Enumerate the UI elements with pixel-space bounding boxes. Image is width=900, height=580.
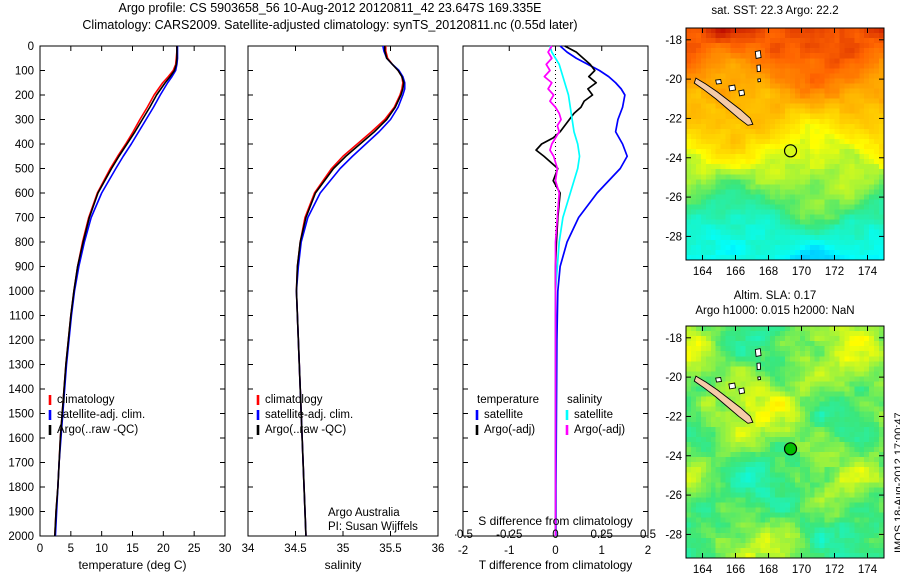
x-tick-label: 5 <box>68 543 74 555</box>
depth-tick-label: 2000 <box>8 531 34 543</box>
x-tick-label: 0 <box>37 543 43 555</box>
t-diff-tick-label: 2 <box>645 545 651 557</box>
islet <box>716 378 722 383</box>
pi-note: PI: Susan Wijffels <box>328 521 418 533</box>
lon-tick-label: 172 <box>825 266 844 278</box>
salinity-plot[interactable]: 3434.53535.536salinityclimatologysatelli… <box>240 38 455 578</box>
legend-label: Argo(..raw -QC) <box>265 424 346 436</box>
x-axis-label: temperature (deg C) <box>78 558 186 572</box>
argo-profile-marker[interactable] <box>785 145 797 157</box>
lat-tick-label: -18 <box>665 333 682 345</box>
depth-tick-label: 1900 <box>8 507 34 519</box>
legend-label: Argo(..raw -QC) <box>57 424 138 436</box>
lon-tick-label: 172 <box>825 564 844 576</box>
islet <box>757 65 761 72</box>
depth-tick-label: 1600 <box>8 433 34 445</box>
lat-tick-label: -18 <box>665 35 682 47</box>
s-diff-tick-label: -0.25 <box>496 529 522 541</box>
lat-tick-label: -20 <box>665 372 682 384</box>
plot-frame <box>40 46 225 536</box>
lon-tick-label: 170 <box>792 266 811 278</box>
depth-tick-label: 500 <box>15 164 34 176</box>
sst-map[interactable]: 164166168170172174-18-20-22-24-26-28 <box>660 20 900 288</box>
x-tick-label: 35 <box>337 543 350 555</box>
depth-tick-label: 900 <box>15 262 34 274</box>
depth-tick-label: 700 <box>15 213 34 225</box>
temperature-plot[interactable]: 0100200300400500600700800900100011001200… <box>0 38 240 578</box>
legend-label: satellite <box>574 409 613 421</box>
lon-tick-label: 166 <box>726 564 745 576</box>
legend-label: Argo(-adj) <box>484 424 535 436</box>
lat-tick-label: -26 <box>665 490 682 502</box>
depth-tick-label: 1300 <box>8 360 34 372</box>
lat-tick-label: -28 <box>665 529 682 541</box>
page-title: Argo profile: CS 5903658_56 10-Aug-2012 … <box>0 0 660 34</box>
title-line-1: Argo profile: CS 5903658_56 10-Aug-2012 … <box>0 0 660 17</box>
difference-plot[interactable]: temperaturesatelliteArgo(-adj)salinitysa… <box>455 38 660 578</box>
t-diff-tick-label: -2 <box>458 545 468 557</box>
lat-tick-label: -26 <box>665 192 682 204</box>
depth-tick-label: 400 <box>15 139 34 151</box>
x-tick-label: 25 <box>188 543 201 555</box>
legend-label: Argo(-adj) <box>574 424 625 436</box>
x-tick-label: 10 <box>95 543 108 555</box>
lat-tick-label: -24 <box>665 153 682 165</box>
x-tick-label: 34.5 <box>284 543 306 555</box>
depth-tick-label: 100 <box>15 66 34 78</box>
lon-tick-label: 164 <box>693 564 713 576</box>
t-diff-tick-label: 0 <box>552 545 558 557</box>
depth-tick-label: 1400 <box>8 384 34 396</box>
salinity-profile-panel: 3434.53535.536salinityclimatologysatelli… <box>240 38 455 578</box>
title-line-2: Climatology: CARS2009. Satellite-adjuste… <box>0 17 660 34</box>
sst-map-panel: 164166168170172174-18-20-22-24-26-28 <box>660 20 900 288</box>
sla-map[interactable]: 164166168170172174-18-20-22-24-26-28 <box>660 318 900 580</box>
islet <box>755 349 761 357</box>
depth-tick-label: 1500 <box>8 409 34 421</box>
x-tick-label: 34 <box>242 543 255 555</box>
legend-label: satellite-adj. clim. <box>57 409 145 421</box>
t-diff-axis-label: T difference from climatology <box>479 558 633 572</box>
islet <box>716 80 722 85</box>
legend-header-salinity: salinity <box>567 394 602 406</box>
difference-profile-panel: temperaturesatelliteArgo(-adj)salinitysa… <box>455 38 660 578</box>
lon-tick-label: 168 <box>759 564 778 576</box>
depth-tick-label: 1100 <box>9 311 34 323</box>
islet <box>757 363 761 370</box>
lon-tick-label: 166 <box>726 266 745 278</box>
lon-tick-label: 174 <box>858 564 878 576</box>
imos-timestamp: IMOS 18-Aug-2012 17:00:47 <box>893 412 900 553</box>
depth-tick-label: 1800 <box>8 482 34 494</box>
x-tick-label: 36 <box>432 543 445 555</box>
x-tick-label: 15 <box>126 543 139 555</box>
x-tick-label: 35.5 <box>379 543 401 555</box>
depth-tick-label: 300 <box>15 115 34 127</box>
map-raster <box>686 326 885 559</box>
depth-tick-label: 1200 <box>8 335 34 347</box>
t-diff-tick-label: 1 <box>599 545 605 557</box>
t-diff-tick-label: -1 <box>504 545 514 557</box>
islet <box>729 85 736 91</box>
legend-header-temperature: temperature <box>477 394 539 406</box>
islet <box>739 388 745 394</box>
sla-map-title: Altim. SLA: 0.17 Argo h1000: 0.015 h2000… <box>660 289 890 319</box>
sla-map-panel: 164166168170172174-18-20-22-24-26-28 <box>660 318 900 580</box>
lon-tick-label: 164 <box>693 266 713 278</box>
lat-tick-label: -20 <box>665 74 682 86</box>
lon-tick-label: 174 <box>858 266 878 278</box>
lat-tick-label: -22 <box>665 411 682 423</box>
depth-tick-label: 1000 <box>8 286 34 298</box>
argo-profile-marker[interactable] <box>785 443 797 455</box>
depth-tick-label: 0 <box>28 41 34 53</box>
argo-australia-note: Argo Australia <box>328 507 400 519</box>
x-tick-label: 30 <box>219 543 232 555</box>
sst-map-title: sat. SST: 22.3 Argo: 22.2 <box>660 4 890 19</box>
lon-tick-label: 168 <box>759 266 778 278</box>
temperature-profile-panel: 0100200300400500600700800900100011001200… <box>0 38 240 578</box>
islet <box>758 377 761 380</box>
x-axis-label: salinity <box>325 558 362 572</box>
depth-tick-label: 1700 <box>8 458 34 470</box>
lon-tick-label: 170 <box>792 564 811 576</box>
lat-tick-label: -22 <box>665 113 682 125</box>
depth-tick-label: 600 <box>15 188 34 200</box>
x-tick-label: 20 <box>157 543 170 555</box>
depth-tick-label: 800 <box>15 237 34 249</box>
islet <box>755 51 761 59</box>
islet <box>758 79 761 82</box>
sla-title-line-2: Argo h1000: 0.015 h2000: NaN <box>660 304 890 319</box>
legend-label: climatology <box>57 394 115 406</box>
s-diff-axis-label: S difference from climatology <box>478 514 633 528</box>
lat-tick-label: -28 <box>665 231 682 243</box>
map-raster <box>686 28 885 261</box>
sla-title-line-1: Altim. SLA: 0.17 <box>660 289 890 304</box>
islet <box>739 90 745 96</box>
plot-frame <box>248 46 438 536</box>
depth-tick-label: 200 <box>15 90 34 102</box>
s-diff-tick-label: -0.5 <box>455 529 473 541</box>
s-diff-tick-label: 0.25 <box>591 529 613 541</box>
legend-label: satellite-adj. clim. <box>265 409 353 421</box>
legend-label: climatology <box>265 394 323 406</box>
legend-label: satellite <box>484 409 523 421</box>
s-diff-tick-label: 0.5 <box>640 529 656 541</box>
islet <box>729 383 736 389</box>
lat-tick-label: -24 <box>665 451 682 463</box>
s-diff-tick-label: 0 <box>552 529 558 541</box>
